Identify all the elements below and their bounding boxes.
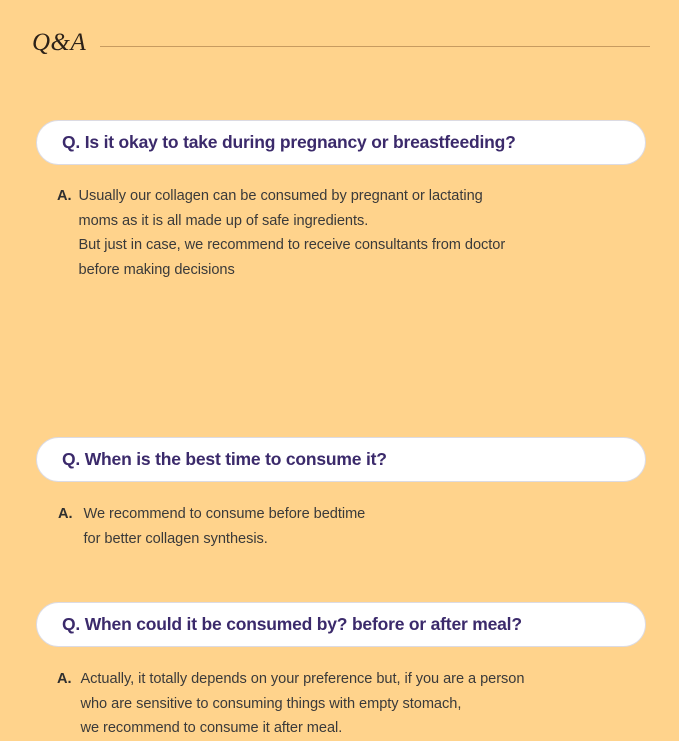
answer-line: Actually, it totally depends on your pre… [81,667,647,692]
answer-line: moms as it is all made up of safe ingred… [79,209,647,234]
answer-block: A. Usually our collagen can be consumed … [57,184,646,282]
answer-marker: A. [57,184,72,209]
question-pill[interactable]: Q. When could it be consumed by? before … [36,602,646,647]
answer-line: Usually our collagen can be consumed by … [79,184,647,209]
answer-lines: We recommend to consume before bedtime f… [84,502,647,551]
qa-page: Q&A Q. Is it okay to take during pregnan… [0,0,679,679]
question-text: Q. When is the best time to consume it? [62,450,387,469]
qa-item: Q. When could it be consumed by? before … [36,602,646,741]
answer-line: We recommend to consume before bedtime [84,502,647,527]
page-header: Q&A [32,26,650,60]
question-text: Q. When could it be consumed by? before … [62,615,522,634]
answer-line: for better collagen synthesis. [84,527,647,552]
question-pill[interactable]: Q. When is the best time to consume it? [36,437,646,482]
answer-line: we recommend to consume it after meal. [81,716,647,741]
question-text: Q. Is it okay to take during pregnancy o… [62,133,516,152]
page-title: Q&A [32,30,86,57]
answer-lines: Actually, it totally depends on your pre… [81,667,647,741]
answer-block: A. Actually, it totally depends on your … [57,667,646,741]
answer-line: who are sensitive to consuming things wi… [81,692,647,717]
answer-lines: Usually our collagen can be consumed by … [79,184,647,282]
answer-marker: A. [58,502,73,527]
question-pill[interactable]: Q. Is it okay to take during pregnancy o… [36,120,646,165]
qa-item: Q. Is it okay to take during pregnancy o… [36,120,646,282]
qa-list: Q. Is it okay to take during pregnancy o… [36,120,646,741]
answer-marker: A. [57,667,72,692]
answer-block: A. We recommend to consume before bedtim… [58,502,646,551]
answer-line: before making decisions [79,258,647,283]
answer-line: But just in case, we recommend to receiv… [79,233,647,258]
qa-item: Q. When is the best time to consume it? … [36,437,646,551]
header-divider [100,46,650,47]
